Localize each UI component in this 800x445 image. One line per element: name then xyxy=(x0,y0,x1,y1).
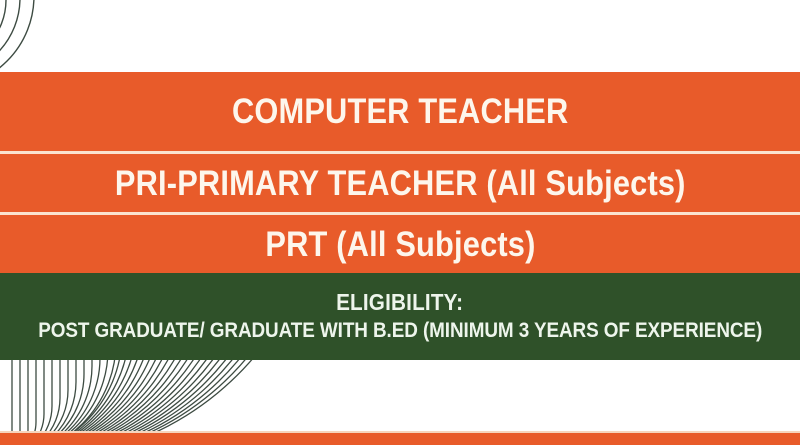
bottom-orange-strip xyxy=(0,433,800,445)
band-prt: PRT (All Subjects) xyxy=(0,215,800,273)
band-computer-teacher: COMPUTER TEACHER xyxy=(0,72,800,151)
eligibility-heading: ELIGIBILITY: xyxy=(336,289,463,315)
band-prt-label: PRT (All Subjects) xyxy=(265,227,535,262)
band-computer-teacher-label: COMPUTER TEACHER xyxy=(232,94,568,129)
band-divider xyxy=(0,212,800,215)
eligibility-block: ELIGIBILITY: POST GRADUATE/ GRADUATE WIT… xyxy=(0,273,800,360)
job-vacancy-poster: COMPUTER TEACHER PRI-PRIMARY TEACHER (Al… xyxy=(0,0,800,445)
band-pri-primary-teacher: PRI-PRIMARY TEACHER (All Subjects) xyxy=(0,154,800,212)
band-divider xyxy=(0,151,800,154)
eligibility-detail: POST GRADUATE/ GRADUATE WITH B.ED (MINIM… xyxy=(38,318,762,344)
job-titles-banner: COMPUTER TEACHER PRI-PRIMARY TEACHER (Al… xyxy=(0,72,800,273)
band-pri-primary-teacher-label: PRI-PRIMARY TEACHER (All Subjects) xyxy=(115,166,686,201)
